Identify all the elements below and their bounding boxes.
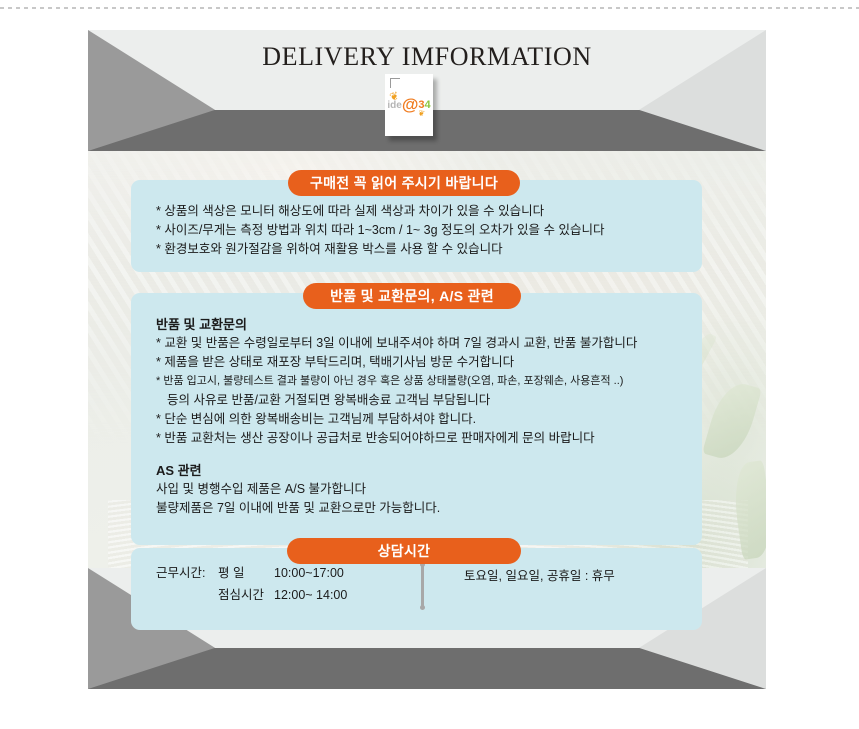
- top-dashed-divider: [0, 7, 859, 9]
- subheading-returns: 반품 및 교환문의: [156, 315, 702, 334]
- logo-corner-mark: [390, 78, 400, 88]
- hours-weekday-value: 10:00~17:00: [274, 566, 344, 580]
- hours-lunch-row: 점심시간12:00~ 14:00: [156, 584, 421, 606]
- badge-consult-hours: 상담시간: [287, 538, 521, 564]
- notice-line: * 상품의 색상은 모니터 해상도에 따라 실제 색상과 차이가 있을 수 있습…: [156, 202, 702, 221]
- hours-grid: 근무시간:평 일10:00~17:00 점심시간12:00~ 14:00 토요일…: [156, 562, 702, 608]
- panel-returns-body: 반품 및 교환문의 * 교환 및 반품은 수령일로부터 3일 이내에 보내주셔야…: [131, 293, 702, 532]
- returns-line: * 반품 교환처는 생산 공장이나 공급처로 반송되어야하므로 판매자에게 문의…: [156, 429, 702, 448]
- hours-lunch-value: 12:00~ 14:00: [274, 588, 347, 602]
- spacer: [156, 448, 702, 461]
- notice-line: * 사이즈/무게는 측정 방법과 위치 따라 1~3cm / 1~ 3g 정도의…: [156, 221, 702, 240]
- as-line: 사입 및 병행수입 제품은 A/S 불가합니다: [156, 480, 702, 499]
- returns-line: * 교환 및 반품은 수령일로부터 3일 이내에 보내주셔야 하며 7일 경과시…: [156, 334, 702, 353]
- hours-left-column: 근무시간:평 일10:00~17:00 점심시간12:00~ 14:00: [156, 562, 421, 606]
- as-line: 불량제품은 7일 이내에 반품 및 교환으로만 가능합니다.: [156, 499, 702, 518]
- notice-line: * 환경보호와 원가절감을 위하여 재활용 박스를 사용 할 수 있습니다: [156, 240, 702, 259]
- hours-label: 근무시간:: [156, 562, 218, 584]
- returns-line: * 제품을 받은 상태로 재포장 부탁드리며, 택배기사님 방문 수거합니다: [156, 353, 702, 372]
- hours-closed-note: 토요일, 일요일, 공휴일 : 휴무: [464, 562, 615, 587]
- subheading-as: AS 관련: [156, 461, 702, 480]
- delivery-information-page: DELIVERY IMFORMATION ❦ ❦ ide@34 구매전 꼭 읽어…: [88, 30, 766, 689]
- returns-line-defect: * 반품 입고시, 불량테스트 결과 불량이 아닌 경우 혹은 상품 상태불량(…: [156, 372, 702, 391]
- badge-before-purchase: 구매전 꼭 읽어 주시기 바랍니다: [288, 170, 520, 196]
- hours-vertical-divider: [421, 564, 424, 608]
- logo-text-prefix: ide: [387, 100, 401, 111]
- brand-logo-card: ❦ ❦ ide@34: [385, 74, 433, 136]
- logo-at-icon: @: [402, 95, 419, 114]
- logo-text-four: 4: [425, 99, 431, 111]
- returns-line: * 단순 변심에 의한 왕복배송비는 고객님께 부담하셔야 합니다.: [156, 410, 702, 429]
- returns-line-defect-cont: 등의 사유로 반품/교환 거절되면 왕복배송료 고객님 부담됩니다: [156, 391, 702, 410]
- logo-wordmark: ide@34: [385, 96, 433, 113]
- hours-lunch-label: 점심시간: [156, 584, 274, 606]
- page-title: DELIVERY IMFORMATION: [88, 42, 766, 72]
- badge-returns-exchange-as: 반품 및 교환문의, A/S 관련: [303, 283, 521, 309]
- hours-weekday-row: 근무시간:평 일10:00~17:00: [156, 562, 421, 584]
- panel-returns-exchange-as: 반품 및 교환문의 * 교환 및 반품은 수령일로부터 3일 이내에 보내주셔야…: [131, 293, 702, 545]
- hours-weekday-label: 평 일: [218, 562, 274, 584]
